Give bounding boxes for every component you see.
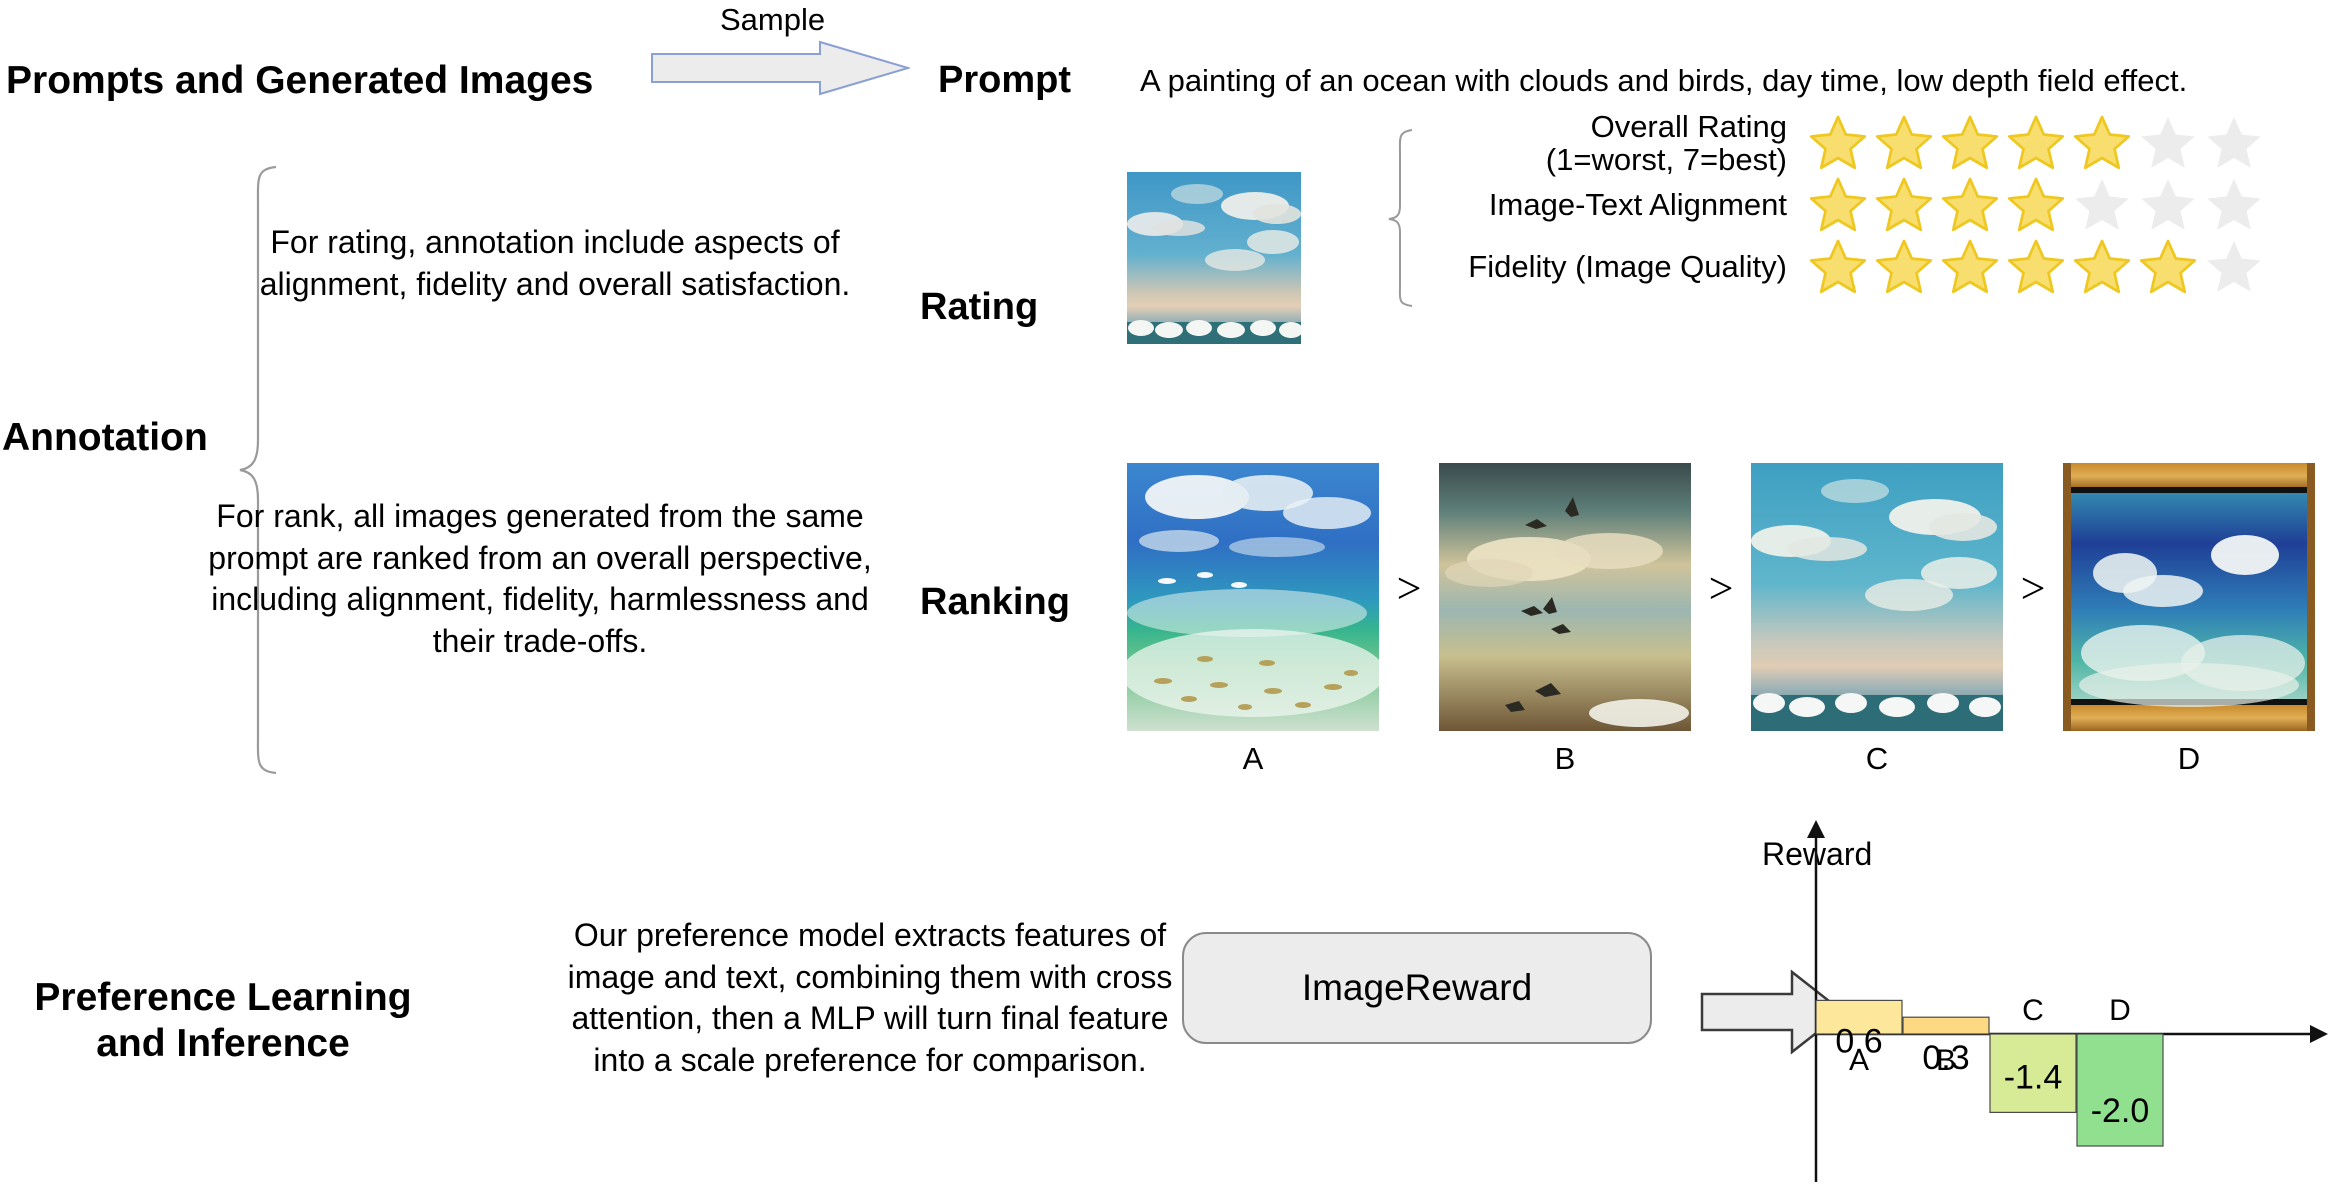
chart-category-label-c: C (2022, 994, 2044, 1027)
star-rating-overall[interactable] (1805, 113, 2267, 173)
star-filled-icon[interactable] (1805, 237, 1871, 297)
star-empty-icon[interactable] (2201, 175, 2267, 235)
chart-bar-d: -2.0D (2077, 994, 2163, 1146)
rating-row-label-alignment: Image-Text Alignment (1420, 188, 1805, 221)
ranking-separator-1: > (1379, 563, 1439, 614)
chart-category-label-b: B (1936, 1044, 1956, 1077)
reward-bar-chart: 0.6A0.3B-1.4C-2.0D (1760, 810, 2338, 1194)
prompt-label: Prompt (938, 58, 1071, 103)
rating-brace-icon (1386, 128, 1416, 308)
star-filled-icon[interactable] (1805, 113, 1871, 173)
star-filled-icon[interactable] (2003, 237, 2069, 297)
sample-arrow-caption: Sample (720, 2, 825, 38)
rating-description: For rating, annotation include aspects o… (230, 222, 880, 305)
prompt-text: A painting of an ocean with clouds and b… (1140, 63, 2187, 99)
star-filled-icon[interactable] (2069, 237, 2135, 297)
star-filled-icon[interactable] (1871, 175, 1937, 235)
ranking-separator-2: > (1691, 563, 1751, 614)
ranking-strip: A > (1127, 463, 2315, 777)
rating-sample-image (1127, 172, 1301, 344)
star-rating-fidelity[interactable] (1805, 237, 2267, 297)
star-filled-icon[interactable] (1937, 175, 2003, 235)
chart-bar-b: 0.3B (1903, 1017, 1989, 1077)
star-empty-icon[interactable] (2069, 175, 2135, 235)
ranking-letter-a: A (1243, 741, 1264, 777)
rating-row-alignment: Image-Text Alignment (1420, 174, 2338, 236)
imagereward-model-box[interactable]: ImageReward (1182, 932, 1652, 1044)
rating-row-label-overall-line2: (1=worst, 7=best) (1420, 143, 1787, 176)
rating-row-label-fidelity: Fidelity (Image Quality) (1420, 250, 1805, 283)
figure-root: Prompts and Generated Images Sample Prom… (0, 0, 2338, 1194)
chart-category-label-a: A (1849, 1044, 1869, 1077)
star-filled-icon[interactable] (2069, 113, 2135, 173)
rating-rows: Overall Rating (1=worst, 7=best) Image-T… (1420, 112, 2338, 298)
ranking-thumbnail-b[interactable] (1439, 463, 1691, 731)
ranking-item-c[interactable]: C (1751, 463, 2003, 777)
star-empty-icon[interactable] (2201, 113, 2267, 173)
chart-category-label-d: D (2109, 994, 2131, 1027)
chart-bar-c: -1.4C (1990, 994, 2076, 1112)
star-filled-icon[interactable] (1937, 237, 2003, 297)
ranking-letter-b: B (1555, 741, 1576, 777)
annotation-label: Annotation (2, 415, 208, 461)
ranking-item-b[interactable]: B (1439, 463, 1691, 777)
chart-bar-a: 0.6A (1816, 1000, 1902, 1077)
rating-row-label-overall: Overall Rating (1=worst, 7=best) (1420, 110, 1805, 177)
chart-bar-value-c: -1.4 (2004, 1058, 2063, 1096)
rating-row-overall: Overall Rating (1=worst, 7=best) (1420, 112, 2338, 174)
ranking-description: For rank, all images generated from the … (190, 496, 890, 662)
ranking-separator-3: > (2003, 563, 2063, 614)
star-filled-icon[interactable] (1805, 175, 1871, 235)
star-filled-icon[interactable] (1871, 237, 1937, 297)
preference-learning-label-line2: and Inference (13, 1021, 433, 1067)
chart-y-axis-arrowhead (1807, 820, 1825, 838)
ranking-thumbnail-a[interactable] (1127, 463, 1379, 731)
imagereward-model-label: ImageReward (1302, 967, 1532, 1009)
star-filled-icon[interactable] (1937, 113, 2003, 173)
star-empty-icon[interactable] (2201, 237, 2267, 297)
ranking-item-d[interactable]: D (2063, 463, 2315, 777)
ranking-letter-d: D (2178, 741, 2200, 777)
star-filled-icon[interactable] (1871, 113, 1937, 173)
preference-learning-label-line1: Preference Learning (13, 975, 433, 1021)
row-title-prompts-and-generated-images: Prompts and Generated Images (6, 58, 593, 104)
star-filled-icon[interactable] (2003, 113, 2069, 173)
star-empty-icon[interactable] (2135, 113, 2201, 173)
rating-label: Rating (920, 285, 1038, 330)
chart-bar-value-d: -2.0 (2091, 1092, 2150, 1130)
rating-row-fidelity: Fidelity (Image Quality) (1420, 236, 2338, 298)
preference-description: Our preference model extracts features o… (560, 915, 1180, 1081)
star-filled-icon[interactable] (2135, 237, 2201, 297)
sample-arrow-icon (650, 40, 910, 96)
ranking-item-a[interactable]: A (1127, 463, 1379, 777)
star-filled-icon[interactable] (2003, 175, 2069, 235)
preference-learning-label: Preference Learning and Inference (13, 975, 433, 1067)
star-empty-icon[interactable] (2135, 175, 2201, 235)
ranking-label: Ranking (920, 580, 1070, 625)
ranking-thumbnail-c[interactable] (1751, 463, 2003, 731)
chart-x-axis-arrowhead (2310, 1025, 2328, 1043)
star-rating-alignment[interactable] (1805, 175, 2267, 235)
rating-row-label-overall-line1: Overall Rating (1420, 110, 1787, 143)
ranking-thumbnail-d[interactable] (2063, 463, 2315, 731)
ranking-letter-c: C (1866, 741, 1888, 777)
